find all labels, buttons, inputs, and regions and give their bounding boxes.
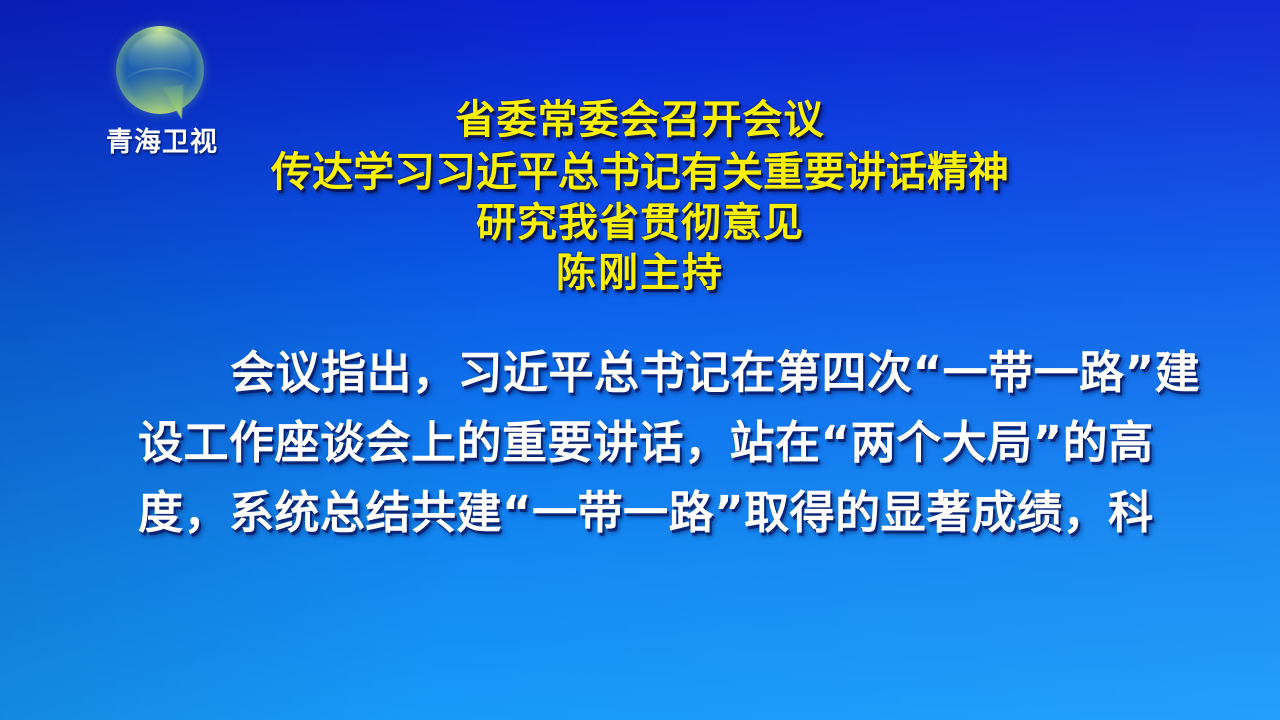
headline-block: 省委常委会召开会议 传达学习习近平总书记有关重要讲话精神 研究我省贯彻意见 陈刚… xyxy=(0,100,1280,294)
body-line-1: 会议指出，习近平总书记在第四次“一带一路”建 xyxy=(138,338,1146,408)
headline-line-4: 陈刚主持 xyxy=(0,253,1280,294)
body-line-2: 设工作座谈会上的重要讲话，站在“两个大局”的高 xyxy=(138,408,1146,478)
sphere-inner-arc-icon xyxy=(125,68,195,99)
body-line-3: 度，系统总结共建“一带一路”取得的显著成绩，科 xyxy=(138,478,1146,548)
body-paragraph: 会议指出，习近平总书记在第四次“一带一路”建 设工作座谈会上的重要讲话，站在“两… xyxy=(138,338,1146,548)
headline-line-2: 传达学习习近平总书记有关重要讲话精神 xyxy=(0,152,1280,194)
headline-line-1: 省委常委会召开会议 xyxy=(0,100,1280,141)
news-slate-screen: 青海卫视 省委常委会召开会议 传达学习习近平总书记有关重要讲话精神 研究我省贯彻… xyxy=(0,0,1280,720)
sphere-highlight-icon xyxy=(128,33,192,73)
headline-line-3: 研究我省贯彻意见 xyxy=(0,203,1280,244)
